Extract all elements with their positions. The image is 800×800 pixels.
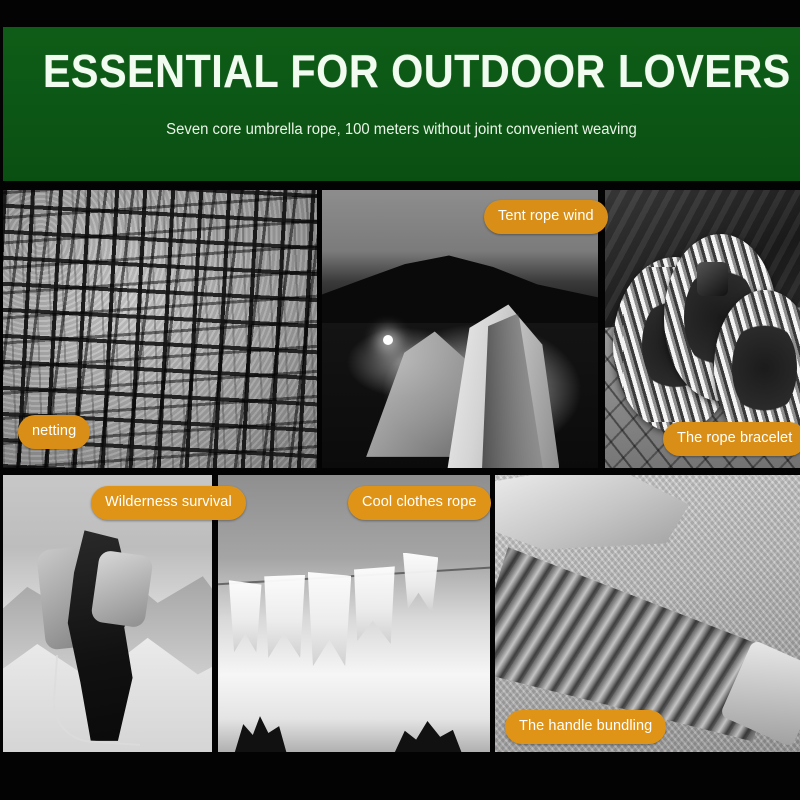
backpack-shape-right — [90, 549, 154, 628]
mountain-ridge-shape — [322, 251, 598, 323]
badge-rope-bracelet: The rope bracelet — [663, 422, 800, 456]
hanging-cloth-1 — [229, 580, 262, 652]
clothesline-rope — [218, 566, 490, 586]
bracelet-clasp — [697, 262, 728, 295]
tree-silhouette-right — [392, 708, 463, 752]
page-subtitle: Seven core umbrella rope, 100 meters wit… — [19, 120, 784, 140]
tree-silhouette-left — [229, 702, 289, 752]
page-title: ESSENTIAL FOR OUTDOOR LOVERS — [43, 45, 760, 97]
hanging-cloth-5 — [403, 553, 438, 614]
badge-cool-clothes-rope: Cool clothes rope — [348, 486, 491, 520]
badge-netting: netting — [18, 415, 90, 449]
badge-handle-bundling: The handle bundling — [505, 710, 666, 744]
header-banner: ESSENTIAL FOR OUTDOOR LOVERS Seven core … — [3, 27, 800, 181]
hanging-cloth-2 — [264, 575, 305, 658]
badge-wilderness-survival: Wilderness survival — [91, 486, 246, 520]
product-infographic: ESSENTIAL FOR OUTDOOR LOVERS Seven core … — [0, 0, 800, 800]
hanging-cloth-3 — [308, 572, 352, 666]
hanging-cloth-4 — [354, 566, 395, 644]
lantern-light-icon — [383, 335, 393, 345]
badge-tent-rope-wind: Tent rope wind — [484, 200, 608, 234]
